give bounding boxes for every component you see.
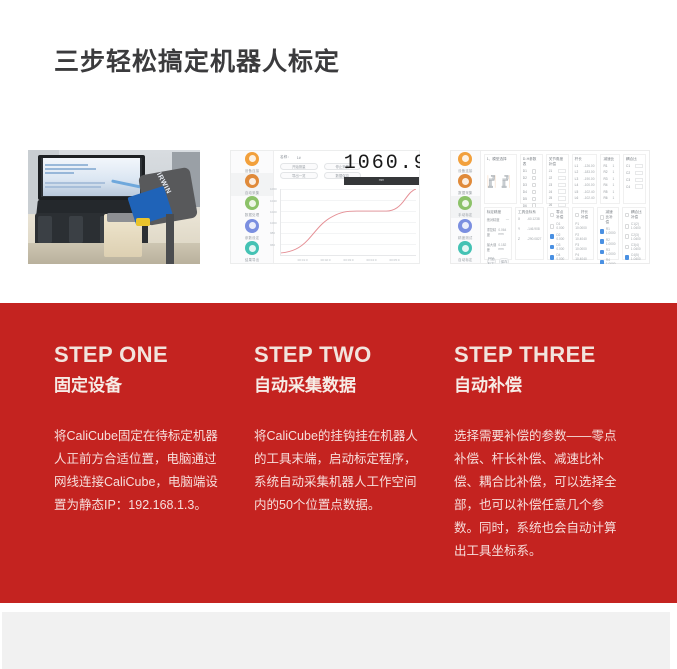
steps-band: STEP ONE 固定设备 将CaliCube固定在待标定机器人正前方合适位置，… <box>0 303 677 603</box>
zero-comp-title: 零点补偿 <box>556 210 566 220</box>
robot-model-panel: 1、模型选择 <box>484 154 517 204</box>
compensation-app-window: 设备连接 数据采集 手动标定 精度测试 <box>450 150 650 264</box>
dh-title: D-H参数表 <box>523 157 540 167</box>
sidebar-label: 自动标定 <box>458 257 472 262</box>
sidebar-item-data-process[interactable]: 数据处理 <box>231 196 273 218</box>
sidebar-label: 参数设定 <box>245 235 259 240</box>
case-latch-left <box>38 216 52 243</box>
reducer-comp-group: 减速比补偿 R1 1.0000 R2 1.0000 R3 1.0000 R4 1… <box>597 207 619 260</box>
save-button[interactable]: 保存 <box>499 258 509 264</box>
step-two-body: 将CaliCube的挂钩挂在机器人的工具末端，启动标定程序，系统自动采集机器人工… <box>254 425 426 517</box>
link-length-panel: 杆长 L1‑126.00 L2‑183.00 L3‑190.00 L4‑100.… <box>572 154 598 204</box>
export-list-button[interactable]: 导出一览 <box>280 172 318 179</box>
step-three-body: 选择需要补偿的参数——零点补偿、杆长补偿、减速比补偿、耦合比补偿，可以选择全部，… <box>454 425 626 563</box>
precision-row-label: 绝对精度 <box>487 217 500 222</box>
robot-diagram <box>487 164 514 200</box>
y-tick: 1000 <box>270 221 277 225</box>
coupling-panel: 耦合比 C1 C2 C3 C4 <box>623 154 646 204</box>
gallery-image-calicube-setup[interactable]: IRWIN <box>28 150 200 264</box>
name-field-label: 名称： <box>280 155 291 160</box>
page-root: 三步轻松搞定机器人标定 <box>0 0 677 669</box>
footer-placeholder-block <box>2 612 670 669</box>
compensation-main-area: 1、模型选择 <box>481 151 649 263</box>
measurement-curve <box>281 189 416 255</box>
sidebar-label: 自动采集 <box>245 190 259 195</box>
precision-row-value: 0.064 mm <box>498 228 509 236</box>
precision-title: 标定精度 <box>487 210 509 215</box>
coupling-comp-title: 耦合比补偿 <box>631 210 643 220</box>
case-latch-mid <box>69 216 83 243</box>
tool-frame-panel: 工具坐标系 X‑60.1238 Y‑146.908 Z‑290.0827 <box>515 207 544 260</box>
gallery-image-auto-compensation[interactable]: 设备连接 数据采集 手动标定 精度测试 <box>450 150 650 264</box>
x-tick: 00:02:0 <box>321 258 331 262</box>
gallery-image-data-acquisition[interactable]: 设备连接 自动采集 数据处理 参数设定 <box>230 150 420 264</box>
acquisition-app-window: 设备连接 自动采集 数据处理 参数设定 <box>230 150 420 264</box>
start-calibration-button[interactable]: 开始标定 <box>487 258 497 264</box>
y-tick: 1060 <box>270 187 277 191</box>
coupling-comp-group: 耦合比补偿 C1(2) 1.0400 C2(3) 1.0400 C3(4) 1.… <box>622 207 646 260</box>
y-tick: 980 <box>270 231 275 235</box>
compensation-top-row: 1、模型选择 <box>484 154 646 204</box>
clamp-rod <box>166 214 175 264</box>
sidebar-label: 结果导出 <box>245 257 259 262</box>
laptop-screen <box>43 158 139 196</box>
measurement-readout: 1060.931 mm <box>344 153 419 185</box>
step-one: STEP ONE 固定设备 将CaliCube固定在待标定机器人正前方合适位置，… <box>54 341 254 563</box>
reducer-title: 减速比 <box>603 157 617 162</box>
sidebar-item-auto-collect[interactable]: 自动采集 <box>231 173 273 195</box>
tool-title: 工具坐标系 <box>518 210 541 215</box>
readout-unit-bar: mm <box>344 177 419 185</box>
compensation-bottom-row: 标定精度 绝对精度 — 重复精度 0.064 mm 最大误差 <box>484 204 646 260</box>
x-tick: 00:05:0 <box>389 258 399 262</box>
y-tick: 960 <box>270 243 275 247</box>
readout-value: 1060.931 <box>344 153 419 175</box>
precision-row-label: 重复精度 <box>487 227 497 237</box>
sidebar-item-data-collect[interactable]: 数据采集 <box>451 173 480 195</box>
step-two: STEP TWO 自动采集数据 将CaliCube的挂钩挂在机器人的工具末端，启… <box>254 341 454 563</box>
step-three-cn-title: 自动补偿 <box>454 373 626 399</box>
sidebar-label: 数据处理 <box>245 212 259 217</box>
step-one-en-title: STEP ONE <box>54 341 226 369</box>
clamp-trigger <box>136 218 150 226</box>
step-one-body: 将CaliCube固定在待标定机器人正前方合适位置，电脑通过网线连接CaliCu… <box>54 425 226 517</box>
sidebar-label: 数据采集 <box>458 190 472 195</box>
sidebar-label: 设备连接 <box>245 168 259 173</box>
image-gallery: IRWIN 设备连接 自动采集 <box>0 150 677 270</box>
title-section: 三步轻松搞定机器人标定 <box>0 0 677 120</box>
sidebar-label: 设备连接 <box>458 168 472 173</box>
precision-panel: 标定精度 绝对精度 — 重复精度 0.064 mm 最大误差 <box>484 207 512 260</box>
compensation-sidebar[interactable]: 设备连接 数据采集 手动标定 精度测试 <box>451 151 481 263</box>
precision-row-label: 最大误差 <box>487 242 497 252</box>
dh-param-panel: D-H参数表 D1 D2 D3 D4 D5 D6 <box>520 154 543 204</box>
zero-comp-group: 零点补偿 D1 0.000 D2 0.000 D3 0.000 D4 0.000… <box>547 207 569 260</box>
acquisition-main-area: 名称： 1# 开始测量 停止采集 导出一览 数据保存 106 <box>274 151 419 263</box>
sidebar-label: 手动标定 <box>458 212 472 217</box>
step-two-en-title: STEP TWO <box>254 341 426 369</box>
precision-row-value: 0.182 mm <box>498 243 509 251</box>
reducer-panel: 减速比 R11 R21 R31 R41 R51 R61 <box>600 154 620 204</box>
sidebar-item-export[interactable]: 结果导出 <box>231 241 273 263</box>
x-tick: 00:03:0 <box>344 258 354 262</box>
link-comp-group: 杆长补偿 P1 10.0000 P2 10.4040 P3 10.0000 P4… <box>572 207 594 260</box>
reducer-comp-title: 减速比补偿 <box>606 210 617 225</box>
steps-container: STEP ONE 固定设备 将CaliCube固定在待标定机器人正前方合适位置，… <box>54 341 654 563</box>
x-tick: 00:01:0 <box>298 258 308 262</box>
link-comp-title: 杆长补偿 <box>581 210 591 220</box>
robot-model-title: 1、模型选择 <box>487 157 514 162</box>
step-two-cn-title: 自动采集数据 <box>254 373 426 399</box>
page-title: 三步轻松搞定机器人标定 <box>54 45 340 79</box>
start-measure-button[interactable]: 开始测量 <box>280 163 318 170</box>
readout-unit: mm <box>379 178 384 182</box>
sidebar-item-device-connect[interactable]: 设备连接 <box>451 151 480 173</box>
sidebar-item-accuracy-test[interactable]: 精度测试 <box>451 218 480 240</box>
coupling-title: 耦合比 <box>626 157 643 162</box>
step-three: STEP THREE 自动补偿 选择需要补偿的参数——零点补偿、杆长补偿、减速比… <box>454 341 654 563</box>
sidebar-item-auto-calibration[interactable]: 自动标定 <box>451 241 480 263</box>
measurement-chart: 1060 1040 1020 1000 980 960 00:01:0 00:0… <box>280 189 416 256</box>
sidebar-item-param-setting[interactable]: 参数设定 <box>231 218 273 240</box>
name-field-value: 1# <box>297 156 301 160</box>
angle-comp-panel: 关节角度补偿 J1 J2 J3 J4 J5 J6 <box>546 154 569 204</box>
step-three-en-title: STEP THREE <box>454 341 626 369</box>
x-tick: 00:04:0 <box>367 258 377 262</box>
precision-row-value: — <box>506 217 509 221</box>
link-title: 杆长 <box>575 157 595 162</box>
angle-title: 关节角度补偿 <box>549 157 566 167</box>
y-tick: 1040 <box>270 199 277 203</box>
sidebar-label: 精度测试 <box>458 235 472 240</box>
sidebar-item-device-connect[interactable]: 设备连接 <box>231 151 273 173</box>
step-one-cn-title: 固定设备 <box>54 373 226 399</box>
sidebar-item-manual-calibration[interactable]: 手动标定 <box>451 196 480 218</box>
y-tick: 1020 <box>270 210 277 214</box>
lab-bench-photo: IRWIN <box>28 150 200 264</box>
acquisition-sidebar[interactable]: 设备连接 自动采集 数据处理 参数设定 <box>231 151 274 263</box>
